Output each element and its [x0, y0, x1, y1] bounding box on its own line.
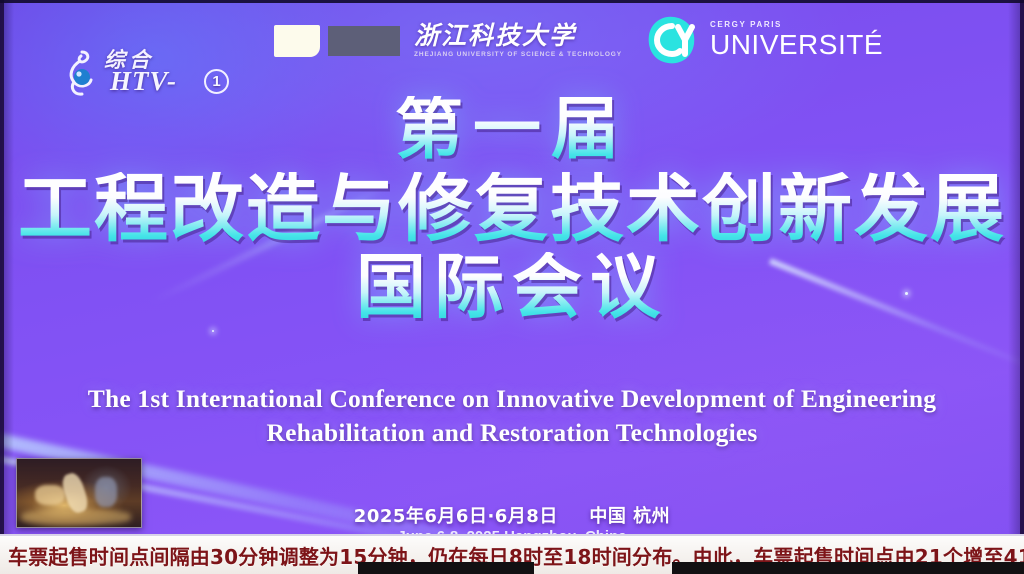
pip-thumbnail[interactable]	[16, 458, 142, 528]
htv-swan-logo-icon	[58, 46, 104, 100]
left-edge-bar	[0, 0, 4, 534]
video-frame: 综合 HTV- 1 浙江科技大学 ZHEJIANG UNIVERSITY OF …	[0, 0, 1024, 574]
conference-date-location: 2025年6月6日·6月8日 中国 杭州	[0, 502, 1024, 528]
cy-top-line: CERGY PARIS	[710, 21, 883, 29]
ticker-highlight-band	[672, 562, 1024, 574]
conference-title-cn: 第一届 工程改造与修复技术创新发展 国际会议	[0, 96, 1024, 322]
zhejiang-university-emblem-icon	[274, 21, 400, 59]
title-cn-line2: 工程改造与修复技术创新发展	[0, 172, 1024, 246]
sparkle-icon	[212, 330, 214, 332]
top-edge-bar	[0, 0, 1024, 3]
broadcast-screen: 综合 HTV- 1 浙江科技大学 ZHEJIANG UNIVERSITY OF …	[0, 0, 1024, 574]
right-edge-bar	[1020, 0, 1024, 534]
logo-zjust: 浙江科技大学 ZHEJIANG UNIVERSITY OF SCIENCE & …	[274, 15, 622, 65]
cy-monogram-icon	[644, 14, 702, 66]
title-cn-line3: 国际会议	[0, 252, 1024, 322]
conference-title-en: The 1st International Conference on Inno…	[0, 382, 1024, 451]
logo-strip: 浙江科技大学 ZHEJIANG UNIVERSITY OF SCIENCE & …	[274, 14, 883, 66]
channel-logo-bug: 综合 HTV- 1	[52, 42, 202, 102]
channel-bug-cn-label: 综合	[104, 44, 154, 74]
zjust-cn-name: 浙江科技大学	[414, 23, 622, 48]
title-en-line1: The 1st International Conference on Inno…	[0, 382, 1024, 416]
logo-cy-cergy-paris: CERGY PARIS UNIVERSITÉ	[644, 14, 883, 66]
ticker-highlight-band	[358, 562, 534, 574]
zjust-en-name: ZHEJIANG UNIVERSITY OF SCIENCE & TECHNOL…	[414, 51, 622, 58]
conference-location: 中国 杭州	[589, 506, 670, 527]
conference-dates: 2025年6月6日·6月8日	[354, 506, 558, 527]
cy-main-line: UNIVERSITÉ	[710, 30, 883, 59]
news-ticker: 车票起售时间点间隔由30分钟调整为15分钟，仍在每日8时至18时间分布。由此，车…	[0, 534, 1024, 574]
title-cn-line1: 第一届	[0, 96, 1024, 164]
channel-number-badge: 1	[204, 69, 229, 94]
channel-bug-en-label: HTV-	[110, 66, 177, 97]
title-en-line2: Rehabilitation and Restoration Technolog…	[0, 416, 1024, 450]
